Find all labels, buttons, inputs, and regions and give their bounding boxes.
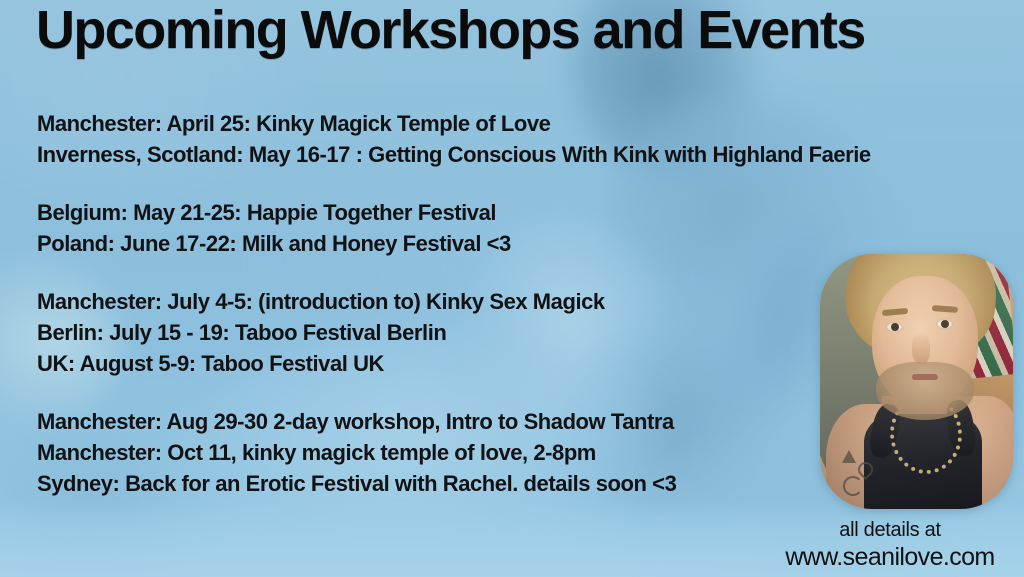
event-line: Manchester: April 25: Kinky Magick Templ… — [37, 108, 1017, 139]
event-line: Inverness, Scotland: May 16-17 : Getting… — [37, 139, 1017, 170]
event-line: Belgium: May 21-25: Happie Together Fest… — [37, 197, 1017, 228]
tattoo-swirl-icon — [843, 476, 863, 496]
footer: all details at www.seanilove.com — [762, 518, 1018, 572]
avatar — [820, 254, 1013, 509]
portrait-nose — [912, 332, 930, 364]
portrait-pupil-left — [891, 323, 899, 331]
footer-website-url: www.seanilove.com — [762, 543, 1018, 572]
page-title: Upcoming Workshops and Events — [36, 2, 865, 58]
portrait-pupil-right — [941, 320, 949, 328]
event-poster: Upcoming Workshops and Events Manchester… — [0, 0, 1024, 577]
tattoo-triangle-icon — [842, 450, 856, 463]
portrait-beard — [876, 362, 974, 420]
portrait-mouth — [912, 374, 938, 380]
event-group: Belgium: May 21-25: Happie Together Fest… — [37, 197, 1017, 259]
portrait-artwork — [820, 254, 1013, 509]
portrait-tattoo — [840, 450, 880, 498]
event-group: Manchester: April 25: Kinky Magick Templ… — [37, 108, 1017, 170]
footer-label: all details at — [762, 518, 1018, 543]
poster-content: Upcoming Workshops and Events Manchester… — [0, 0, 1024, 577]
